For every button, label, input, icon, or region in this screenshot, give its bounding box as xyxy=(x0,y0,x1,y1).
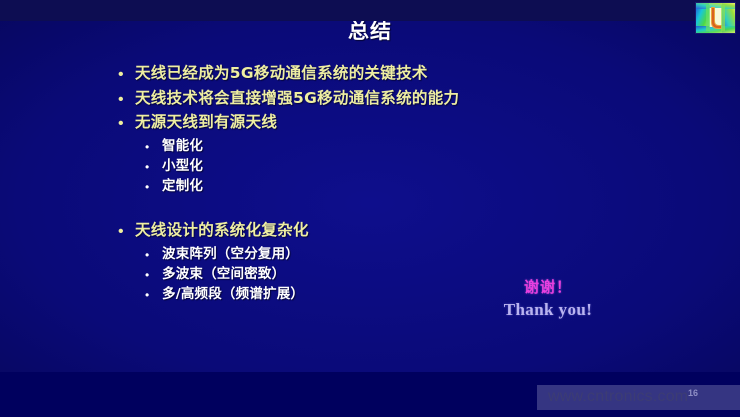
thanks-block: 谢谢！ Thank you! xyxy=(468,276,628,320)
page-number: 16 xyxy=(688,388,698,398)
bullet-text: 天线设计的系统化复杂化 xyxy=(135,221,309,240)
bullet-text: 无源天线到有源天线 xyxy=(135,113,277,132)
sub-bullet-text: 定制化 xyxy=(162,178,203,195)
sub-bullet-marker: • xyxy=(145,158,162,177)
sub-bullet-marker: • xyxy=(145,138,162,157)
sub-bullet-text: 多/高频段（频谱扩展） xyxy=(162,286,304,303)
bullet-text: 天线已经成为5G移动通信系统的关键技术 xyxy=(135,64,428,83)
sub-bullet-text: 智能化 xyxy=(162,138,203,155)
bullet-marker: • xyxy=(118,64,135,86)
bullet-list: • 天线已经成为5G移动通信系统的关键技术 • 天线技术将会直接增强5G移动通信… xyxy=(118,64,638,307)
sub-bullet-marker: • xyxy=(145,178,162,197)
sub-bullet-text: 多波束（空间密致） xyxy=(162,266,285,283)
bullet-item: • 无源天线到有源天线 xyxy=(118,113,638,135)
sub-bullet-item: • 小型化 xyxy=(118,158,638,177)
thanks-english: Thank you! xyxy=(468,300,628,320)
watermark-text: www.cntronics.com xyxy=(548,388,688,406)
bullet-text: 天线技术将会直接增强5G移动通信系统的能力 xyxy=(135,89,459,108)
bullet-group-spacer xyxy=(118,198,638,221)
bullet-item: • 天线设计的系统化复杂化 xyxy=(118,221,638,243)
bullet-marker: • xyxy=(118,89,135,111)
bullet-item: • 天线已经成为5G移动通信系统的关键技术 xyxy=(118,64,638,86)
sub-bullet-item: • 定制化 xyxy=(118,178,638,197)
bullet-marker: • xyxy=(118,221,135,243)
sub-bullet-marker: • xyxy=(145,266,162,285)
sub-bullet-text: 波束阵列（空分复用） xyxy=(162,246,299,263)
sub-bullet-marker: • xyxy=(145,286,162,305)
sub-bullet-item: • 波束阵列（空分复用） xyxy=(118,246,638,265)
sub-bullet-text: 小型化 xyxy=(162,158,203,175)
sub-bullet-item: • 智能化 xyxy=(118,138,638,157)
header-band xyxy=(0,0,740,21)
em-field-heatmap-logo-icon xyxy=(695,2,736,34)
watermark-band: www.cntronics.com xyxy=(537,385,740,410)
slide-canvas: Advanced Antenna Technologies in 5G Mobi… xyxy=(0,0,740,417)
bullet-marker: • xyxy=(118,113,135,135)
bullet-item: • 天线技术将会直接增强5G移动通信系统的能力 xyxy=(118,89,638,111)
sub-bullet-marker: • xyxy=(145,246,162,265)
thanks-chinese: 谢谢！ xyxy=(468,276,628,297)
